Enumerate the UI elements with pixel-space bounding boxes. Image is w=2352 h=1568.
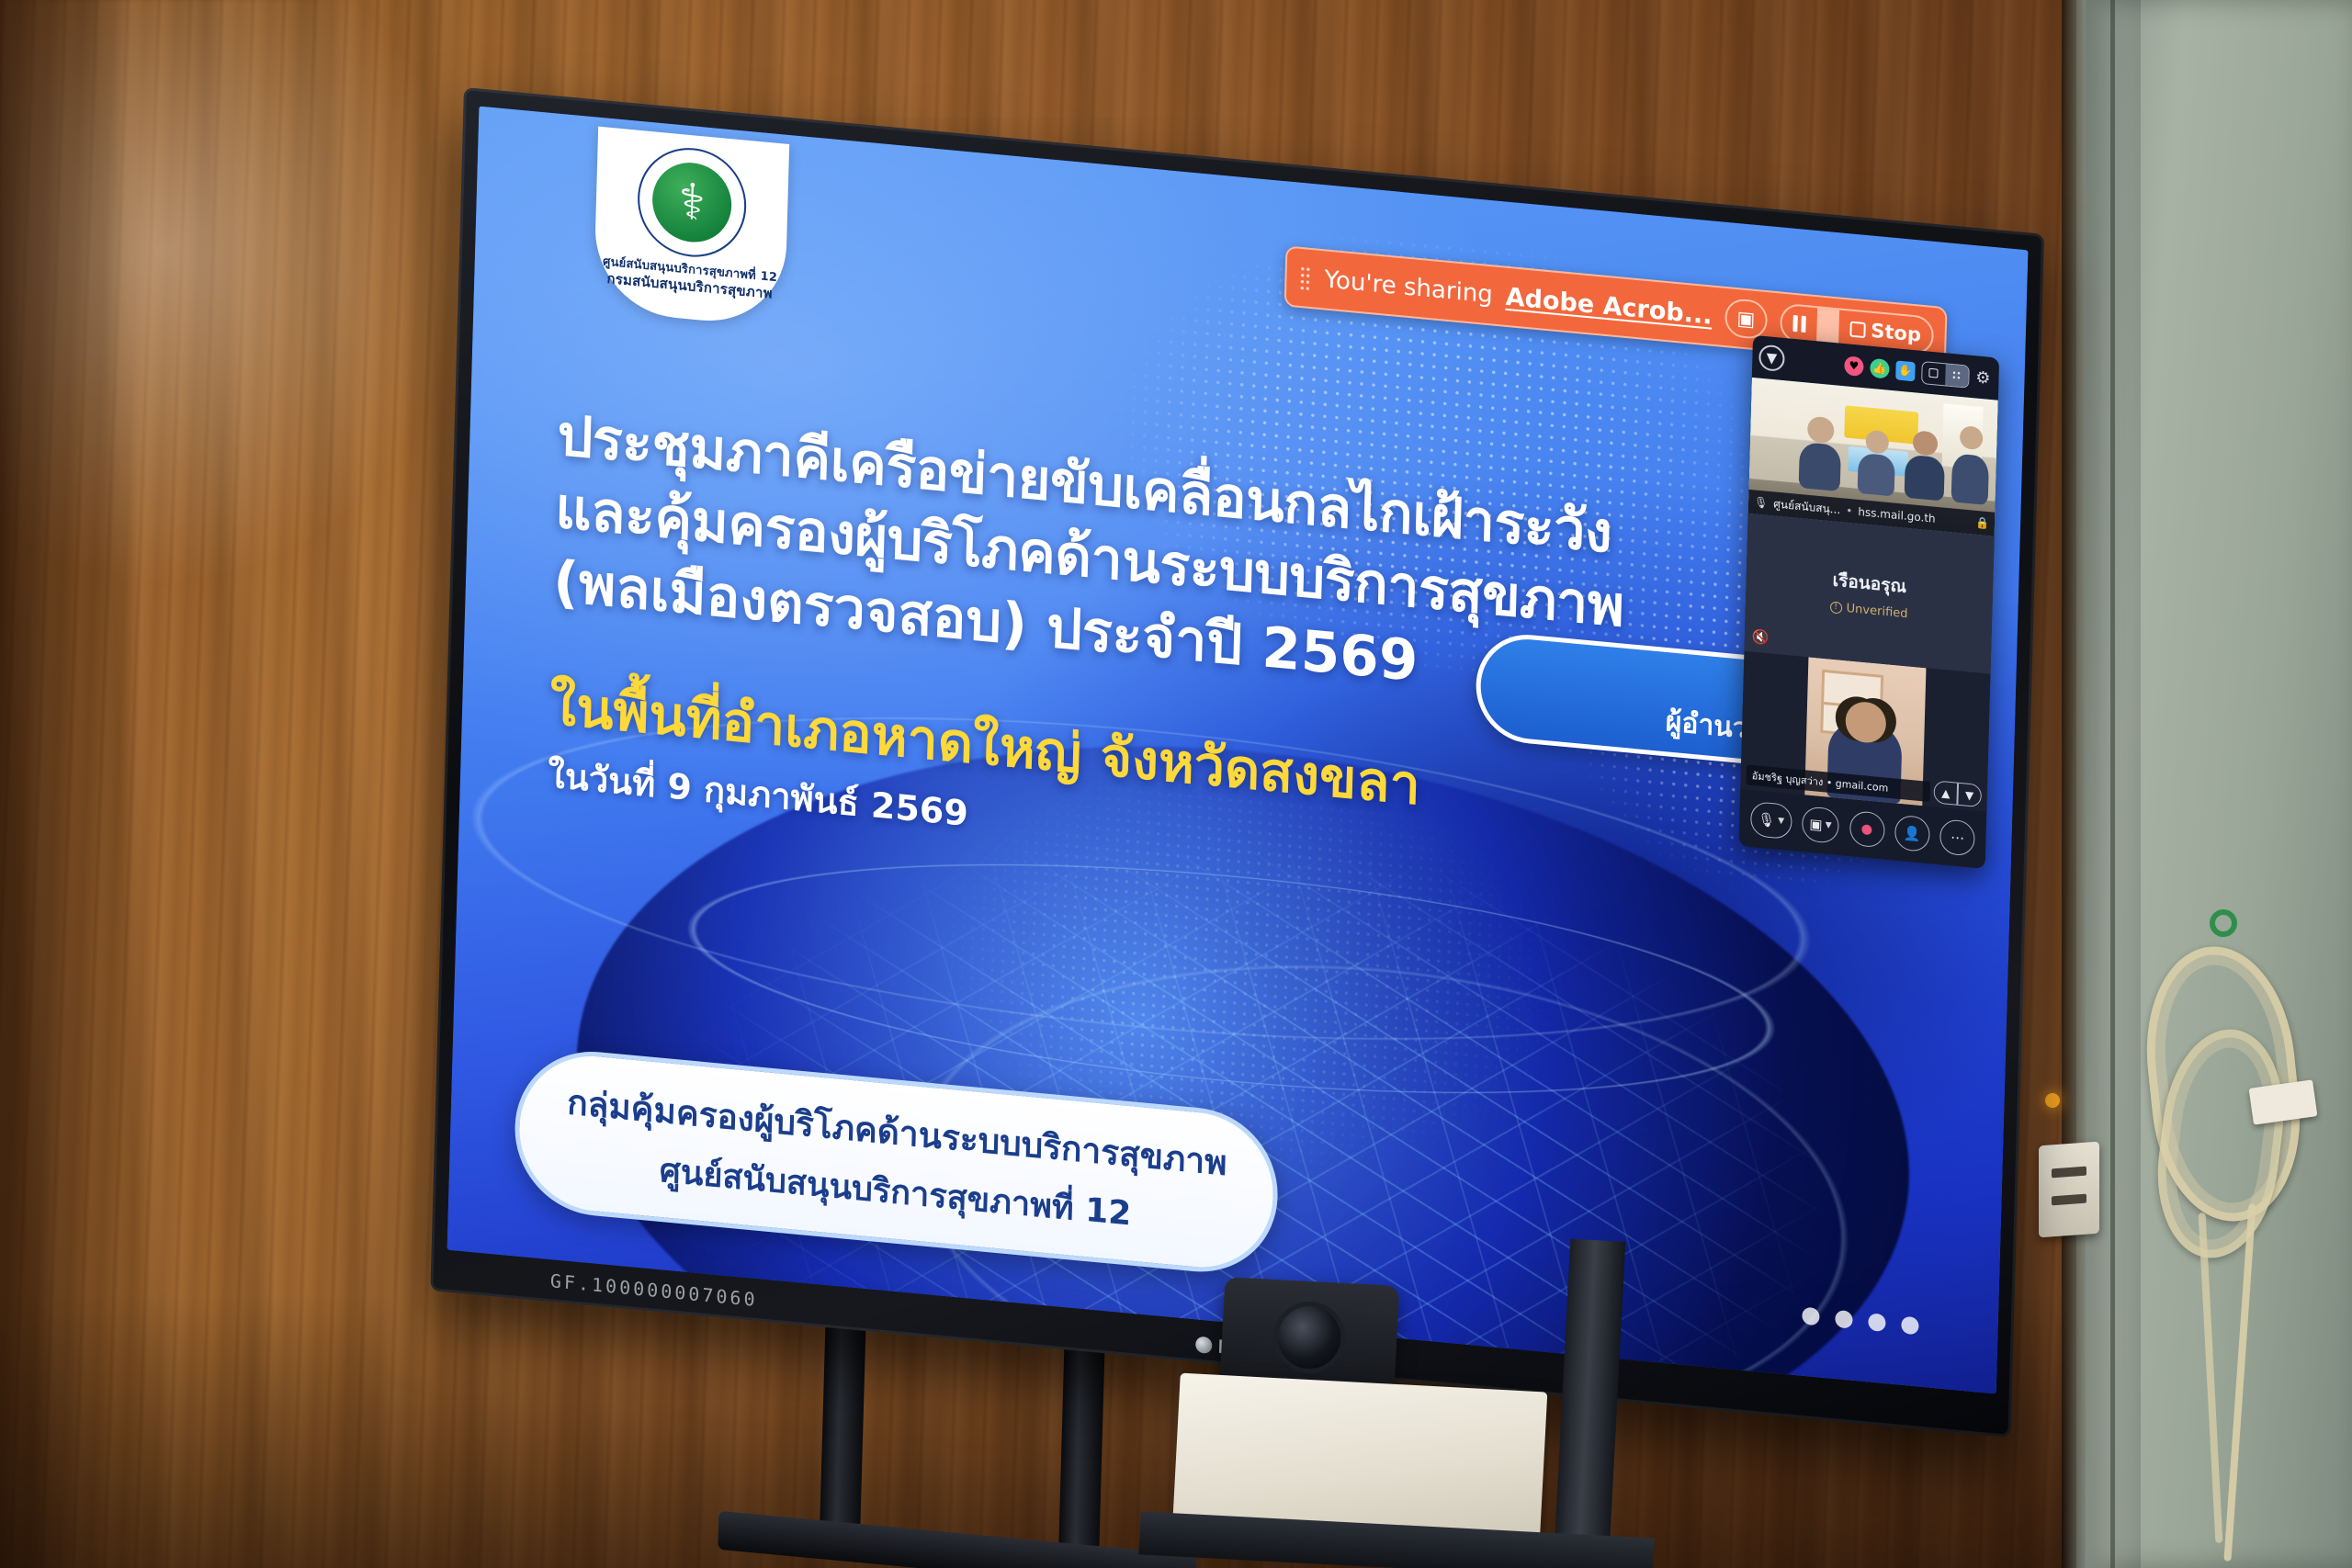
record-button[interactable] [1849,810,1884,849]
participant-tile-video[interactable]: 🎙 ศูนย์สนับสนุ... • hss.mail.go.th 🔒 [1748,378,1998,536]
mic-muted-icon: 🔇 [1752,628,1770,647]
shared-app-name[interactable]: Adobe Acrob... [1505,282,1713,330]
thumbs-up-reaction-icon[interactable]: 👍 [1870,357,1890,378]
divider [1816,308,1839,344]
chevron-down-icon[interactable]: ▼ [1758,344,1785,373]
seal-ring [638,144,747,261]
heart-reaction-icon[interactable]: ♥ [1844,355,1864,377]
wall-seam [2110,0,2115,1568]
participant-tile-video-2[interactable]: อัมชริฐ บุญสว่าง • gmail.com ▲ ▼ [1740,651,1990,812]
participant-tile-avatar[interactable]: เรือนอรุณ ! Unverified 🔇 [1744,513,1994,674]
annotate-button[interactable]: ▣ [1724,298,1768,340]
stop-square-icon [1849,321,1865,338]
person-shape [1798,442,1841,492]
participants-button[interactable]: 👤 [1894,815,1930,853]
sharing-label: You're sharing [1324,265,1493,309]
lock-icon: 🔒 [1975,516,1989,530]
ministry-of-public-health-seal-icon: ⚕ [636,143,747,262]
zoom-video-panel[interactable]: ▼ ♥ 👍 ✋ ⚙ [1739,335,2000,869]
stop-share-label: Stop [1871,320,1921,346]
ellipsis-icon: ⋯ [1951,829,1965,846]
person-icon: 👤 [1904,824,1921,842]
person-shape [1904,455,1944,502]
chevron-down-icon[interactable]: ▼ [1825,821,1831,831]
participant-name: ศูนย์สนับสนุ... [1773,495,1841,519]
pagination-dot [1802,1307,1820,1326]
logo-caption: ศูนย์สนับสนุนบริการสุขภาพที่ 12 กรมสนับส… [602,255,777,303]
separator: • [1846,504,1852,518]
camera-icon: ▣ [1809,816,1823,833]
unverified-label: Unverified [1846,602,1907,621]
spacer [1791,360,1837,365]
pagination-dot [1835,1310,1853,1329]
pause-icon [1792,315,1806,333]
wall-panel-right [2086,0,2352,1568]
pagination-dot [1868,1313,1886,1332]
tv-stand-neck-left [820,1314,866,1548]
wall-pillar [2076,0,2141,1568]
room-photo: ⚕ ศูนย์สนับสนุนบริการสุขภาพที่ 12 กรมสนั… [0,0,2352,1568]
gear-icon[interactable]: ⚙ [1975,367,1993,389]
cable-hook-icon [2210,909,2237,937]
chevron-down-icon[interactable]: ▼ [1778,817,1784,827]
person-shape [1857,453,1894,497]
tv-stand-neck-right [1058,1337,1105,1568]
unverified-badge: ! Unverified [1829,600,1907,621]
lg-logo-icon [1195,1336,1213,1354]
more-button[interactable]: ⋯ [1939,818,1975,857]
pause-share-button[interactable] [1781,305,1817,344]
gallery-view-icon[interactable] [1945,364,1969,387]
participant-video-feed: 🎙 ศูนย์สนับสนุ... • hss.mail.go.th 🔒 [1748,378,1998,536]
view-mode-toggle[interactable] [1921,360,1970,388]
drag-grip-icon[interactable] [1299,265,1312,290]
speaker-view-icon[interactable] [1922,362,1946,385]
pagination-dot [1901,1316,1919,1336]
tile-scroll-arrows[interactable]: ▲ ▼ [1933,780,1982,807]
tv-screen: ⚕ ศูนย์สนับสนุนบริการสุขภาพที่ 12 กรมสนั… [447,107,2029,1394]
clap-reaction-icon[interactable]: ✋ [1895,360,1916,381]
unverified-shield-icon: ! [1829,601,1841,614]
camera-lens-icon [1272,1300,1347,1375]
television: ⚕ ศูนย์สนับสนุนบริการสุขภาพที่ 12 กรมสนั… [464,87,2081,1438]
person-shape [1951,453,1989,505]
mic-button[interactable]: 🎙▼ [1750,801,1792,840]
participant-name: เรือนอรุณ [1832,567,1906,601]
mic-icon: 🎙 [1754,495,1769,509]
chevron-up-icon[interactable]: ▲ [1935,785,1958,800]
chevron-down-icon[interactable]: ▼ [1958,787,1981,802]
participant-domain: hss.mail.go.th [1858,505,1936,525]
tv-bezel: ⚕ ศูนย์สนับสนุนบริการสุขภาพที่ 12 กรมสนั… [430,87,2044,1438]
video-button[interactable]: ▣▼ [1802,806,1839,844]
annotate-icon: ▣ [1736,307,1756,331]
record-dot-icon [1861,824,1871,835]
mic-icon: 🎙 [1758,811,1776,829]
